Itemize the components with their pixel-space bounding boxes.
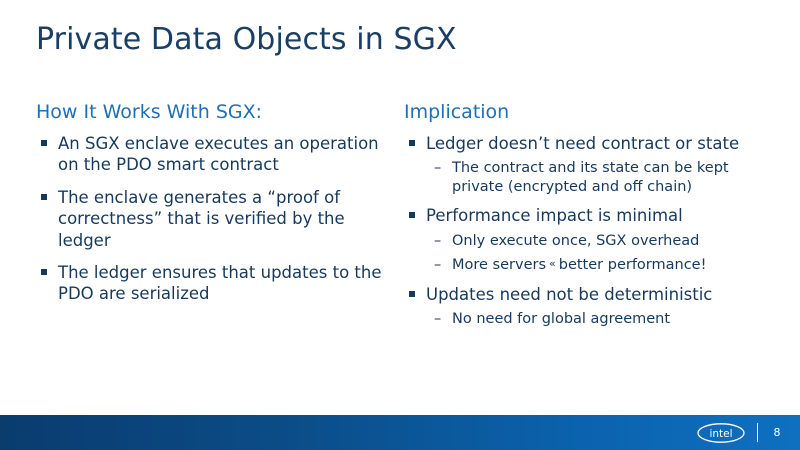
bullet-text: An SGX enclave executes an operation on … bbox=[58, 133, 396, 176]
footer-divider bbox=[757, 423, 758, 442]
list-item: Performance impact is minimal – Only exe… bbox=[404, 205, 774, 275]
sub-bullet-text-before: More servers bbox=[452, 257, 546, 273]
dash-bullet-icon: – bbox=[434, 232, 441, 251]
list-item: The ledger ensures that updates to the P… bbox=[36, 262, 396, 305]
svg-text:intel: intel bbox=[709, 428, 732, 440]
page-title: Private Data Objects in SGX bbox=[36, 22, 766, 57]
sub-list-item: – Only execute once, SGX overhead bbox=[426, 232, 774, 251]
sub-bullet-text: No need for global agreement bbox=[452, 310, 774, 329]
sub-bullet-list: – No need for global agreement bbox=[426, 310, 774, 329]
footer-bar: intel 8 bbox=[0, 415, 800, 450]
intel-logo-icon: intel bbox=[695, 421, 747, 445]
bullet-text: The ledger ensures that updates to the P… bbox=[58, 262, 396, 305]
dash-bullet-icon: – bbox=[434, 256, 441, 275]
sub-bullet-text: Only execute once, SGX overhead bbox=[452, 232, 774, 251]
square-bullet-icon bbox=[409, 140, 415, 146]
slide: Private Data Objects in SGX How It Works… bbox=[0, 0, 800, 450]
sub-list-item: – The contract and its state can be kept… bbox=[426, 159, 774, 196]
sub-bullet-list: – Only execute once, SGX overhead – More… bbox=[426, 232, 774, 275]
sub-list-item: – More servers«better performance! bbox=[426, 256, 774, 275]
right-column: Implication Ledger doesn’t need contract… bbox=[404, 102, 774, 338]
bullet-text: The enclave generates a “proof of correc… bbox=[58, 187, 396, 251]
sub-bullet-list: – The contract and its state can be kept… bbox=[426, 159, 774, 196]
right-column-heading: Implication bbox=[404, 102, 774, 124]
left-column-heading: How It Works With SGX: bbox=[36, 102, 396, 124]
page-number: 8 bbox=[772, 426, 782, 439]
right-column-bullet-list: Ledger doesn’t need contract or state – … bbox=[404, 133, 774, 329]
list-item: The enclave generates a “proof of correc… bbox=[36, 187, 396, 251]
list-item: An SGX enclave executes an operation on … bbox=[36, 133, 396, 176]
bullet-text: Updates need not be deterministic bbox=[426, 284, 774, 305]
footer-content: intel 8 bbox=[695, 415, 800, 450]
sub-bullet-text: More servers«better performance! bbox=[452, 256, 774, 275]
bullet-text: Performance impact is minimal bbox=[426, 205, 774, 226]
sub-bullet-text-after: better performance! bbox=[559, 257, 707, 273]
list-item: Updates need not be deterministic – No n… bbox=[404, 284, 774, 329]
square-bullet-icon bbox=[41, 269, 47, 275]
arrow-glyph-icon: « bbox=[546, 257, 559, 270]
sub-bullet-text: The contract and its state can be kept p… bbox=[452, 159, 774, 196]
left-column: How It Works With SGX: An SGX enclave ex… bbox=[36, 102, 396, 316]
sub-list-item: – No need for global agreement bbox=[426, 310, 774, 329]
bullet-text: Ledger doesn’t need contract or state bbox=[426, 133, 774, 154]
dash-bullet-icon: – bbox=[434, 159, 441, 178]
left-column-bullet-list: An SGX enclave executes an operation on … bbox=[36, 133, 396, 305]
square-bullet-icon bbox=[41, 140, 47, 146]
square-bullet-icon bbox=[41, 194, 47, 200]
square-bullet-icon bbox=[409, 291, 415, 297]
square-bullet-icon bbox=[409, 212, 415, 218]
list-item: Ledger doesn’t need contract or state – … bbox=[404, 133, 774, 197]
dash-bullet-icon: – bbox=[434, 310, 441, 329]
